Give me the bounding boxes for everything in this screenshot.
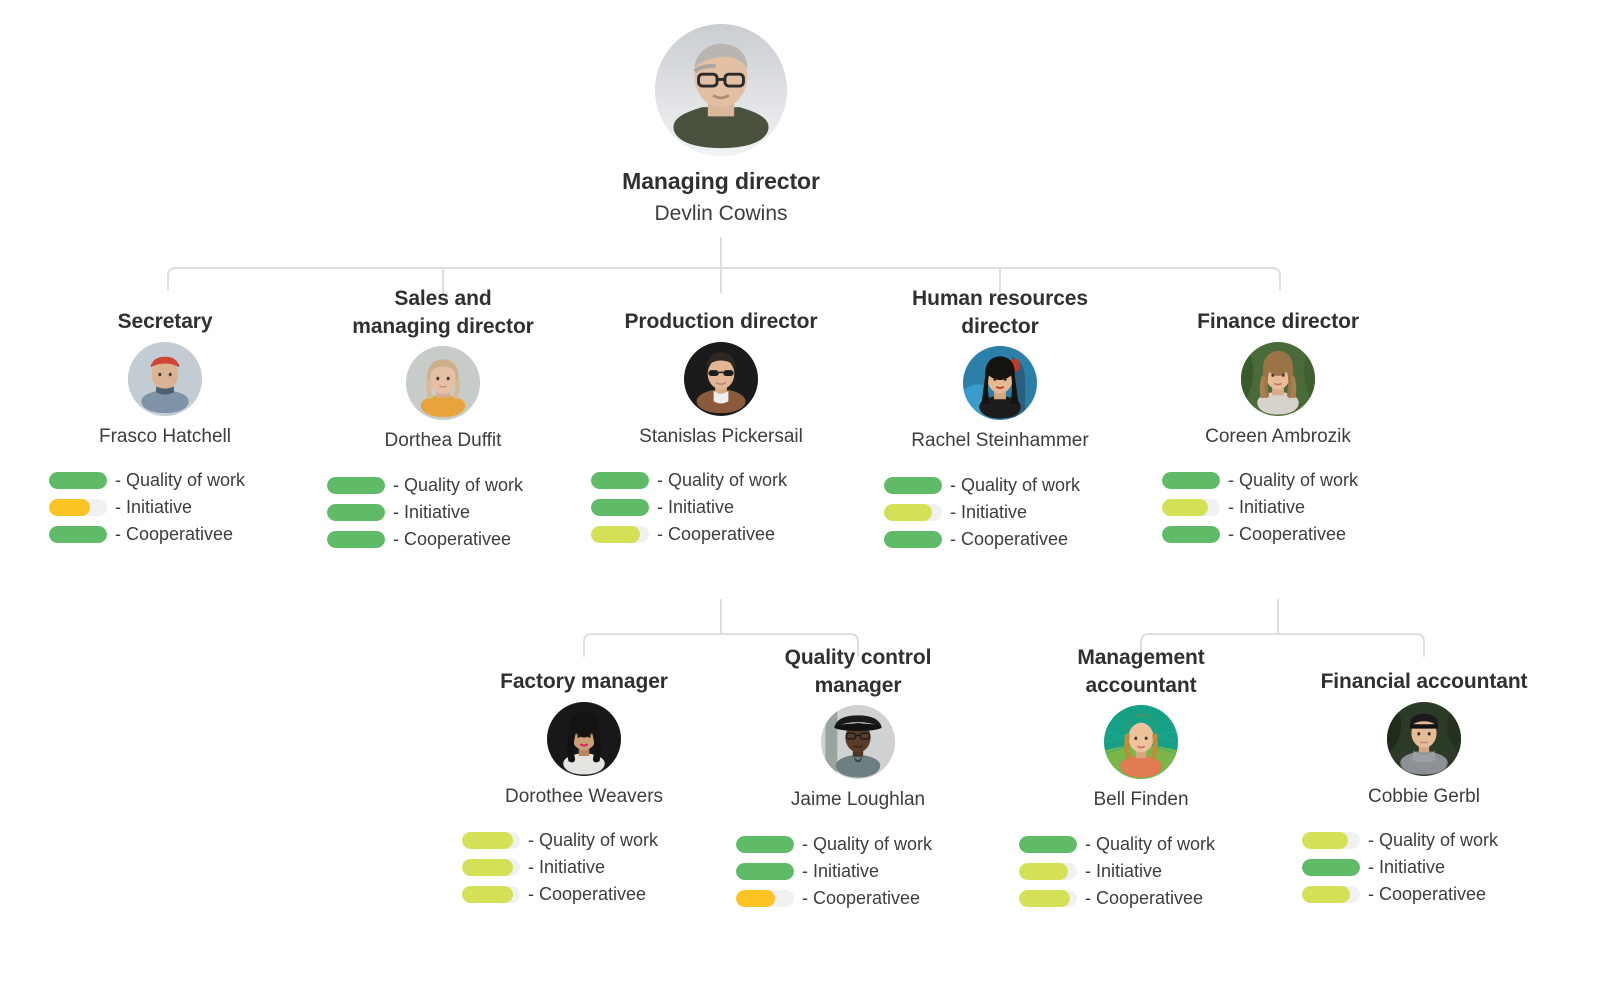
rating-bar-fill xyxy=(1162,472,1220,489)
ratings-list: - Quality of work - Initiative - Coopera… xyxy=(1019,835,1271,907)
node-sales-and-managing-director[interactable]: Sales and managing director Dorthea Duff… xyxy=(313,285,573,548)
rating-label: - Cooperativee xyxy=(950,530,1068,548)
node-name: Rachel Steinhammer xyxy=(870,429,1130,454)
rating-row-cooperative: - Cooperativee xyxy=(736,889,920,907)
rating-row-initiative: - Initiative xyxy=(591,498,734,516)
rating-row-quality: - Quality of work xyxy=(884,476,1080,494)
org-chart: Managing director Devlin Cowins Secretar… xyxy=(0,0,1600,1000)
rating-bar-fill xyxy=(736,890,775,907)
rating-row-initiative: - Initiative xyxy=(1302,858,1445,876)
rating-row-quality: - Quality of work xyxy=(1162,471,1358,489)
rating-label: - Initiative xyxy=(802,862,879,880)
rating-bar-fill xyxy=(327,504,385,521)
node-title: Financial accountant xyxy=(1294,668,1554,696)
node-name: Coreen Ambrozik xyxy=(1148,425,1408,450)
node-human-resources-director[interactable]: Human resources director Rachel Steinham… xyxy=(870,285,1130,548)
node-name: Bell Finden xyxy=(1011,788,1271,813)
rating-label: - Quality of work xyxy=(657,471,787,489)
node-title: Management accountant xyxy=(1011,644,1271,699)
node-name: Dorthea Duffit xyxy=(313,429,573,454)
ratings-list: - Quality of work - Initiative - Coopera… xyxy=(736,835,988,907)
rating-bar-fill xyxy=(884,531,942,548)
rating-bar-track xyxy=(884,504,942,521)
node-title: Factory manager xyxy=(454,668,714,696)
rating-label: - Cooperativee xyxy=(657,525,775,543)
rating-bar-fill xyxy=(736,836,794,853)
rating-label: - Quality of work xyxy=(1228,471,1358,489)
rating-row-quality: - Quality of work xyxy=(1302,831,1498,849)
rating-row-initiative: - Initiative xyxy=(327,503,470,521)
rating-bar-track xyxy=(327,504,385,521)
avatar-production-director xyxy=(684,342,758,416)
rating-bar-track xyxy=(1302,886,1360,903)
rating-bar-track xyxy=(736,836,794,853)
avatar-finance-director xyxy=(1241,342,1315,416)
rating-label: - Quality of work xyxy=(950,476,1080,494)
rating-bar-track xyxy=(1302,832,1360,849)
rating-bar-fill xyxy=(736,863,794,880)
ratings-list: - Quality of work - Initiative - Coopera… xyxy=(884,476,1130,548)
rating-bar-track xyxy=(1019,836,1077,853)
rating-bar-fill xyxy=(591,472,649,489)
node-title: Finance director xyxy=(1148,308,1408,336)
rating-bar-track xyxy=(49,526,107,543)
node-title: Human resources director xyxy=(870,285,1130,340)
rating-row-quality: - Quality of work xyxy=(327,476,523,494)
node-title: Quality control manager xyxy=(728,644,988,699)
rating-label: - Initiative xyxy=(1085,862,1162,880)
rating-label: - Quality of work xyxy=(393,476,523,494)
node-title: Sales and managing director xyxy=(313,285,573,340)
rating-label: - Cooperativee xyxy=(1085,889,1203,907)
rating-bar-fill xyxy=(591,526,640,543)
rating-row-initiative: - Initiative xyxy=(1019,862,1162,880)
rating-label: - Cooperativee xyxy=(1228,525,1346,543)
node-title: Secretary xyxy=(35,308,295,336)
ratings-list: - Quality of work - Initiative - Coopera… xyxy=(462,831,714,903)
avatar-financial-accountant xyxy=(1387,702,1461,776)
rating-row-cooperative: - Cooperativee xyxy=(1162,525,1346,543)
ratings-list: - Quality of work - Initiative - Coopera… xyxy=(591,471,851,543)
rating-bar-track xyxy=(884,531,942,548)
node-title: Production director xyxy=(591,308,851,336)
rating-row-cooperative: - Cooperativee xyxy=(327,530,511,548)
rating-bar-fill xyxy=(49,472,107,489)
rating-label: - Initiative xyxy=(528,858,605,876)
rating-bar-fill xyxy=(1019,836,1077,853)
rating-bar-track xyxy=(462,886,520,903)
avatar-management-accountant xyxy=(1104,705,1178,779)
rating-label: - Initiative xyxy=(393,503,470,521)
avatar-sales-director xyxy=(406,346,480,420)
rating-bar-fill xyxy=(327,531,385,548)
rating-bar-fill xyxy=(1302,886,1350,903)
rating-bar-fill xyxy=(1302,859,1360,876)
rating-row-quality: - Quality of work xyxy=(49,471,245,489)
rating-bar-fill xyxy=(1302,832,1348,849)
node-quality-control-manager[interactable]: Quality control manager Jaime Loughlan xyxy=(728,644,988,907)
node-name: Cobbie Gerbl xyxy=(1294,785,1554,810)
rating-label: - Cooperativee xyxy=(802,889,920,907)
rating-label: - Initiative xyxy=(1368,858,1445,876)
rating-bar-fill xyxy=(1162,499,1208,516)
rating-label: - Quality of work xyxy=(1085,835,1215,853)
rating-bar-fill xyxy=(49,499,90,516)
rating-bar-fill xyxy=(884,504,932,521)
rating-row-initiative: - Initiative xyxy=(462,858,605,876)
rating-label: - Cooperativee xyxy=(393,530,511,548)
node-factory-manager[interactable]: Factory manager Dorothee Weavers - Quali… xyxy=(454,668,714,903)
rating-bar-track xyxy=(591,526,649,543)
rating-row-initiative: - Initiative xyxy=(49,498,192,516)
rating-bar-track xyxy=(327,531,385,548)
rating-bar-track xyxy=(1162,526,1220,543)
node-secretary[interactable]: Secretary Frasco Hatchell - Quality of w… xyxy=(35,308,295,543)
node-production-director[interactable]: Production director Stanislas Pickersail xyxy=(591,308,851,543)
rating-bar-fill xyxy=(1019,863,1068,880)
rating-label: - Cooperativee xyxy=(1368,885,1486,903)
avatar-managing-director xyxy=(655,24,787,156)
avatar-hr-director xyxy=(963,346,1037,420)
rating-bar-fill xyxy=(462,832,513,849)
rating-bar-fill xyxy=(327,477,385,494)
rating-row-quality: - Quality of work xyxy=(462,831,658,849)
rating-row-cooperative: - Cooperativee xyxy=(591,525,775,543)
node-name: Frasco Hatchell xyxy=(35,425,295,450)
rating-bar-track xyxy=(591,499,649,516)
rating-row-cooperative: - Cooperativee xyxy=(49,525,233,543)
rating-row-quality: - Quality of work xyxy=(591,471,787,489)
rating-bar-fill xyxy=(462,859,513,876)
rating-bar-track xyxy=(49,472,107,489)
rating-bar-fill xyxy=(49,526,107,543)
rating-label: - Cooperativee xyxy=(115,525,233,543)
rating-label: - Quality of work xyxy=(802,835,932,853)
rating-label: - Initiative xyxy=(115,498,192,516)
rating-bar-fill xyxy=(591,499,649,516)
rating-bar-fill xyxy=(1019,890,1070,907)
rating-row-cooperative: - Cooperativee xyxy=(884,530,1068,548)
ratings-list: - Quality of work - Initiative - Coopera… xyxy=(1302,831,1554,903)
avatar-factory-manager xyxy=(547,702,621,776)
rating-bar-track xyxy=(1162,499,1220,516)
rating-row-cooperative: - Cooperativee xyxy=(1019,889,1203,907)
rating-bar-fill xyxy=(1162,526,1220,543)
rating-bar-track xyxy=(462,859,520,876)
rating-row-initiative: - Initiative xyxy=(1162,498,1305,516)
rating-bar-fill xyxy=(462,886,513,903)
ratings-list: - Quality of work - Initiative - Coopera… xyxy=(1162,471,1408,543)
rating-row-initiative: - Initiative xyxy=(736,862,879,880)
rating-label: - Initiative xyxy=(950,503,1027,521)
rating-bar-track xyxy=(1019,863,1077,880)
rating-bar-track xyxy=(591,472,649,489)
node-management-accountant[interactable]: Management accountant Bell Finden xyxy=(1011,644,1271,907)
rating-label: - Initiative xyxy=(657,498,734,516)
ratings-list: - Quality of work - Initiative - Coopera… xyxy=(49,471,295,543)
rating-bar-track xyxy=(1019,890,1077,907)
rating-bar-track xyxy=(1302,859,1360,876)
node-name: Stanislas Pickersail xyxy=(591,425,851,450)
rating-row-quality: - Quality of work xyxy=(1019,835,1215,853)
node-name: Jaime Loughlan xyxy=(728,788,988,813)
node-financial-accountant[interactable]: Financial accountant Cobbie Gerbl xyxy=(1294,668,1554,903)
rating-row-quality: - Quality of work xyxy=(736,835,932,853)
rating-label: - Quality of work xyxy=(528,831,658,849)
rating-bar-track xyxy=(884,477,942,494)
rating-bar-track xyxy=(736,890,794,907)
node-finance-director[interactable]: Finance director Coreen Ambrozik xyxy=(1148,308,1408,543)
node-title: Managing director xyxy=(571,166,871,196)
rating-bar-track xyxy=(736,863,794,880)
rating-label: - Cooperativee xyxy=(528,885,646,903)
node-name: Dorothee Weavers xyxy=(454,785,714,810)
rating-row-initiative: - Initiative xyxy=(884,503,1027,521)
rating-bar-fill xyxy=(884,477,942,494)
node-name: Devlin Cowins xyxy=(571,200,871,227)
rating-row-cooperative: - Cooperativee xyxy=(1302,885,1486,903)
rating-bar-track xyxy=(49,499,107,516)
rating-label: - Quality of work xyxy=(115,471,245,489)
avatar-secretary xyxy=(128,342,202,416)
rating-label: - Quality of work xyxy=(1368,831,1498,849)
rating-bar-track xyxy=(327,477,385,494)
rating-row-cooperative: - Cooperativee xyxy=(462,885,646,903)
rating-bar-track xyxy=(1162,472,1220,489)
rating-bar-track xyxy=(462,832,520,849)
avatar-quality-manager xyxy=(821,705,895,779)
node-managing-director[interactable]: Managing director Devlin Cowins xyxy=(571,18,871,228)
ratings-list: - Quality of work - Initiative - Coopera… xyxy=(327,476,573,548)
rating-label: - Initiative xyxy=(1228,498,1305,516)
